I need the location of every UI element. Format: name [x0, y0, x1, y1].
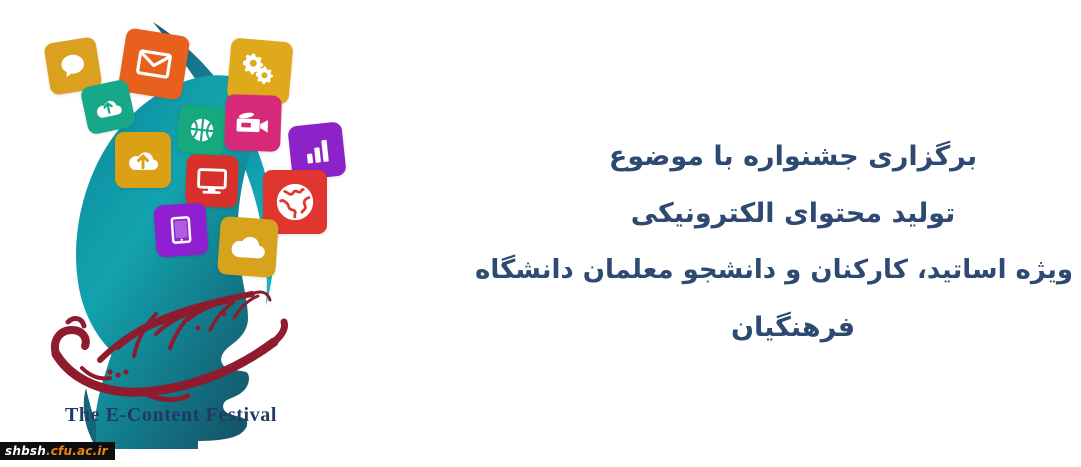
tablet-icon — [153, 202, 209, 258]
video-camera-icon — [224, 94, 282, 152]
cloud-upload-icon — [115, 132, 171, 188]
headline-line-4: فرهنگیان — [513, 299, 1073, 356]
headline-block: برگزاری جشنواره با موضوع تولید محتوای ال… — [513, 128, 1073, 356]
upload-cloud-icon — [80, 79, 137, 136]
monitor-icon — [185, 154, 239, 208]
cloud-icon — [217, 216, 279, 278]
festival-latin-title: The E-Content Festival — [42, 404, 300, 427]
headline-line-1: برگزاری جشنواره با موضوع — [513, 128, 1073, 185]
banner-root: The E-Content Festival برگزاری جشنواره ب… — [0, 0, 1081, 467]
basketball-icon — [176, 104, 229, 157]
festival-calligraphy — [38, 276, 300, 408]
watermark-prefix: shbsh — [5, 445, 46, 457]
headline-line-2: تولید محتوای الکترونیکی — [513, 185, 1073, 242]
headline-line-3: ویژه اساتید، کارکنان و دانشجو معلمان دان… — [513, 242, 1073, 299]
watermark-suffix: .cfu.ac.ir — [46, 445, 108, 457]
festival-graphic: The E-Content Festival — [0, 0, 560, 467]
festival-logo: The E-Content Festival — [38, 276, 300, 436]
site-watermark: shbsh .cfu.ac.ir — [0, 442, 115, 460]
